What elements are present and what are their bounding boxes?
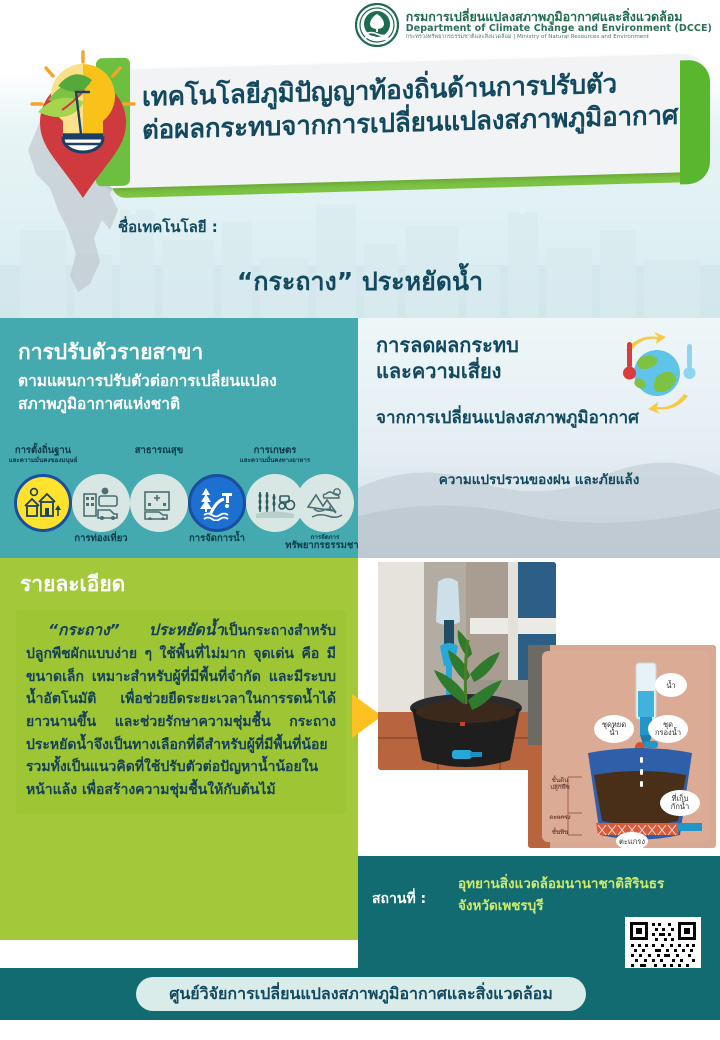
organization-ministry: กระทรวงทรัพยากรธรรมชาติและสิ่งแวดล้อม | … [406, 34, 712, 40]
sector-water-management-caption: การจัดการน้ำ [165, 534, 269, 545]
svg-text:กรองน้ำ: กรองน้ำ [655, 727, 681, 737]
footer-pill: ศูนย์วิจัยการเปลี่ยนแปลงสภาพภูมิอากาศและ… [136, 977, 586, 1011]
sector-icon-strip: การตั้งถิ่นฐาน และความมั่นคงของมนุษย์ [8, 446, 352, 550]
dcce-tree-water-seal-icon [355, 3, 399, 47]
houses-settlement-icon [14, 474, 72, 532]
details-panel: รายละเอียด “กระถาง” ประหยัดน้ำเป็นกระถาง… [0, 558, 358, 940]
adaptation-subheading: ตามแผนการปรับตัวต่อการเปลี่ยนแปลง สภาพภู… [18, 370, 348, 417]
mitigation-heading: การลดผลกระทบ และความเสี่ยง [376, 332, 519, 384]
mitigation-heading-line-2: และความเสี่ยง [376, 358, 519, 384]
globe-thermometer-cycle-icon [608, 332, 706, 414]
sector-public-health-caption: สาธารณสุข [107, 446, 211, 457]
lightbulb-leaf-map-pin-icon [18, 48, 148, 208]
sector-tourism-title: การท่องเที่ยว [49, 534, 153, 545]
mitigation-heading-line-1: การลดผลกระทบ [376, 332, 519, 358]
sector-water-management-title: การจัดการน้ำ [165, 534, 269, 545]
adaptation-panel: การปรับตัวรายสาขา ตามแผนการปรับตัวต่อการ… [0, 318, 358, 558]
mitigation-note: ความแปรปรวนของฝน และภัยแล้ง [358, 468, 720, 490]
diagram-label-water: น้ำ [666, 680, 675, 690]
svg-text:น้ำ: น้ำ [609, 727, 618, 737]
organization-name-th: กรมการเปลี่ยนแปลงสภาพภูมิอากาศและสิ่งแวด… [406, 10, 712, 24]
footer-whitespace [0, 1020, 720, 1040]
location-label: สถานที่ : [372, 888, 426, 910]
details-paragraph: “กระถาง” ประหยัดน้ำเป็นกระถางสำหรับปลูกพ… [26, 618, 336, 802]
natural-resources-mountain-icon [296, 474, 354, 532]
mitigation-subheading: จากการเปลี่ยนแปลงสภาพภูมิอากาศ [376, 404, 639, 431]
water-tap-river-icon [188, 474, 246, 532]
adaptation-subheading-line-2: สภาพภูมิอากาศแห่งชาติ [18, 393, 348, 416]
details-body-text: เป็นกระถางสำหรับปลูกพืชผักแบบง่าย ๆ ใช้พ… [26, 623, 336, 798]
svg-text:กักน้ำ: กักน้ำ [671, 801, 689, 811]
photo-pot-cross-section-diagram: น้ำ ชุดกรองน้ำ ชุดหยดน้ำ ที่เก็บกักน้ำ ต… [528, 645, 716, 848]
hero-section: กรมการเปลี่ยนแปลงสภาพภูมิอากาศและสิ่งแวด… [0, 0, 720, 320]
sector-agriculture-caption: การเกษตร และความมั่นคงทางอาหาร [223, 446, 327, 464]
svg-text:ชั้นดิน: ชั้นดิน [552, 775, 569, 784]
svg-text:ตะแกรง: ตะแกรง [549, 814, 570, 821]
sector-agriculture-title: การเกษตร [223, 446, 327, 457]
details-lead: “กระถาง” ประหยัดน้ำ [48, 621, 224, 639]
poster-root: กรมการเปลี่ยนแปลงสภาพภูมิอากาศและสิ่งแวด… [0, 0, 720, 1040]
svg-text:ปลูกพืช: ปลูกพืช [550, 783, 570, 791]
location-line-1: อุทยานสิ่งแวดล้อมนานาชาติสิรินธร [458, 874, 698, 896]
hills-background-icon [358, 438, 720, 558]
sector-settlement-caption: การตั้งถิ่นฐาน และความมั่นคงของมนุษย์ [0, 446, 95, 464]
tourism-bus-building-icon [72, 474, 130, 532]
organization-logo-block: กรมการเปลี่ยนแปลงสภาพภูมิอากาศและสิ่งแวด… [355, 3, 712, 47]
svg-text:ตะแกรง: ตะแกรง [619, 837, 645, 846]
location-value: อุทยานสิ่งแวดล้อมนานาชาติสิรินธร จังหวัด… [458, 874, 698, 917]
organization-name-en: Department of Climate Change and Environ… [406, 24, 712, 35]
details-body-box: “กระถาง” ประหยัดน้ำเป็นกระถางสำหรับปลูกพ… [16, 610, 346, 814]
sector-tourism-caption: การท่องเที่ยว [49, 534, 153, 545]
svg-text:ชั้นหิน: ชั้นหิน [552, 827, 570, 836]
sector-agriculture-subtitle: และความมั่นคงทางอาหาร [223, 457, 327, 464]
adaptation-heading: การปรับตัวรายสาขา [18, 336, 203, 369]
sector-settlement-subtitle: และความมั่นคงของมนุษย์ [0, 457, 95, 464]
adaptation-subheading-line-1: ตามแผนการปรับตัวต่อการเปลี่ยนแปลง [18, 370, 348, 393]
technology-name: “กระถาง” ประหยัดน้ำ [0, 262, 720, 302]
hospital-ambulance-icon [130, 474, 188, 532]
technology-label: ชื่อเทคโนโลยี : [118, 215, 218, 239]
sector-settlement-title: การตั้งถิ่นฐาน [0, 446, 95, 457]
sector-public-health-title: สาธารณสุข [107, 446, 211, 457]
details-heading: รายละเอียด [20, 568, 125, 601]
mitigation-panel: การลดผลกระทบ และความเสี่ยง จากการเปลี่ยน… [358, 318, 720, 558]
footer-text: ศูนย์วิจัยการเปลี่ยนแปลงสภาพภูมิอากาศและ… [169, 982, 553, 1007]
